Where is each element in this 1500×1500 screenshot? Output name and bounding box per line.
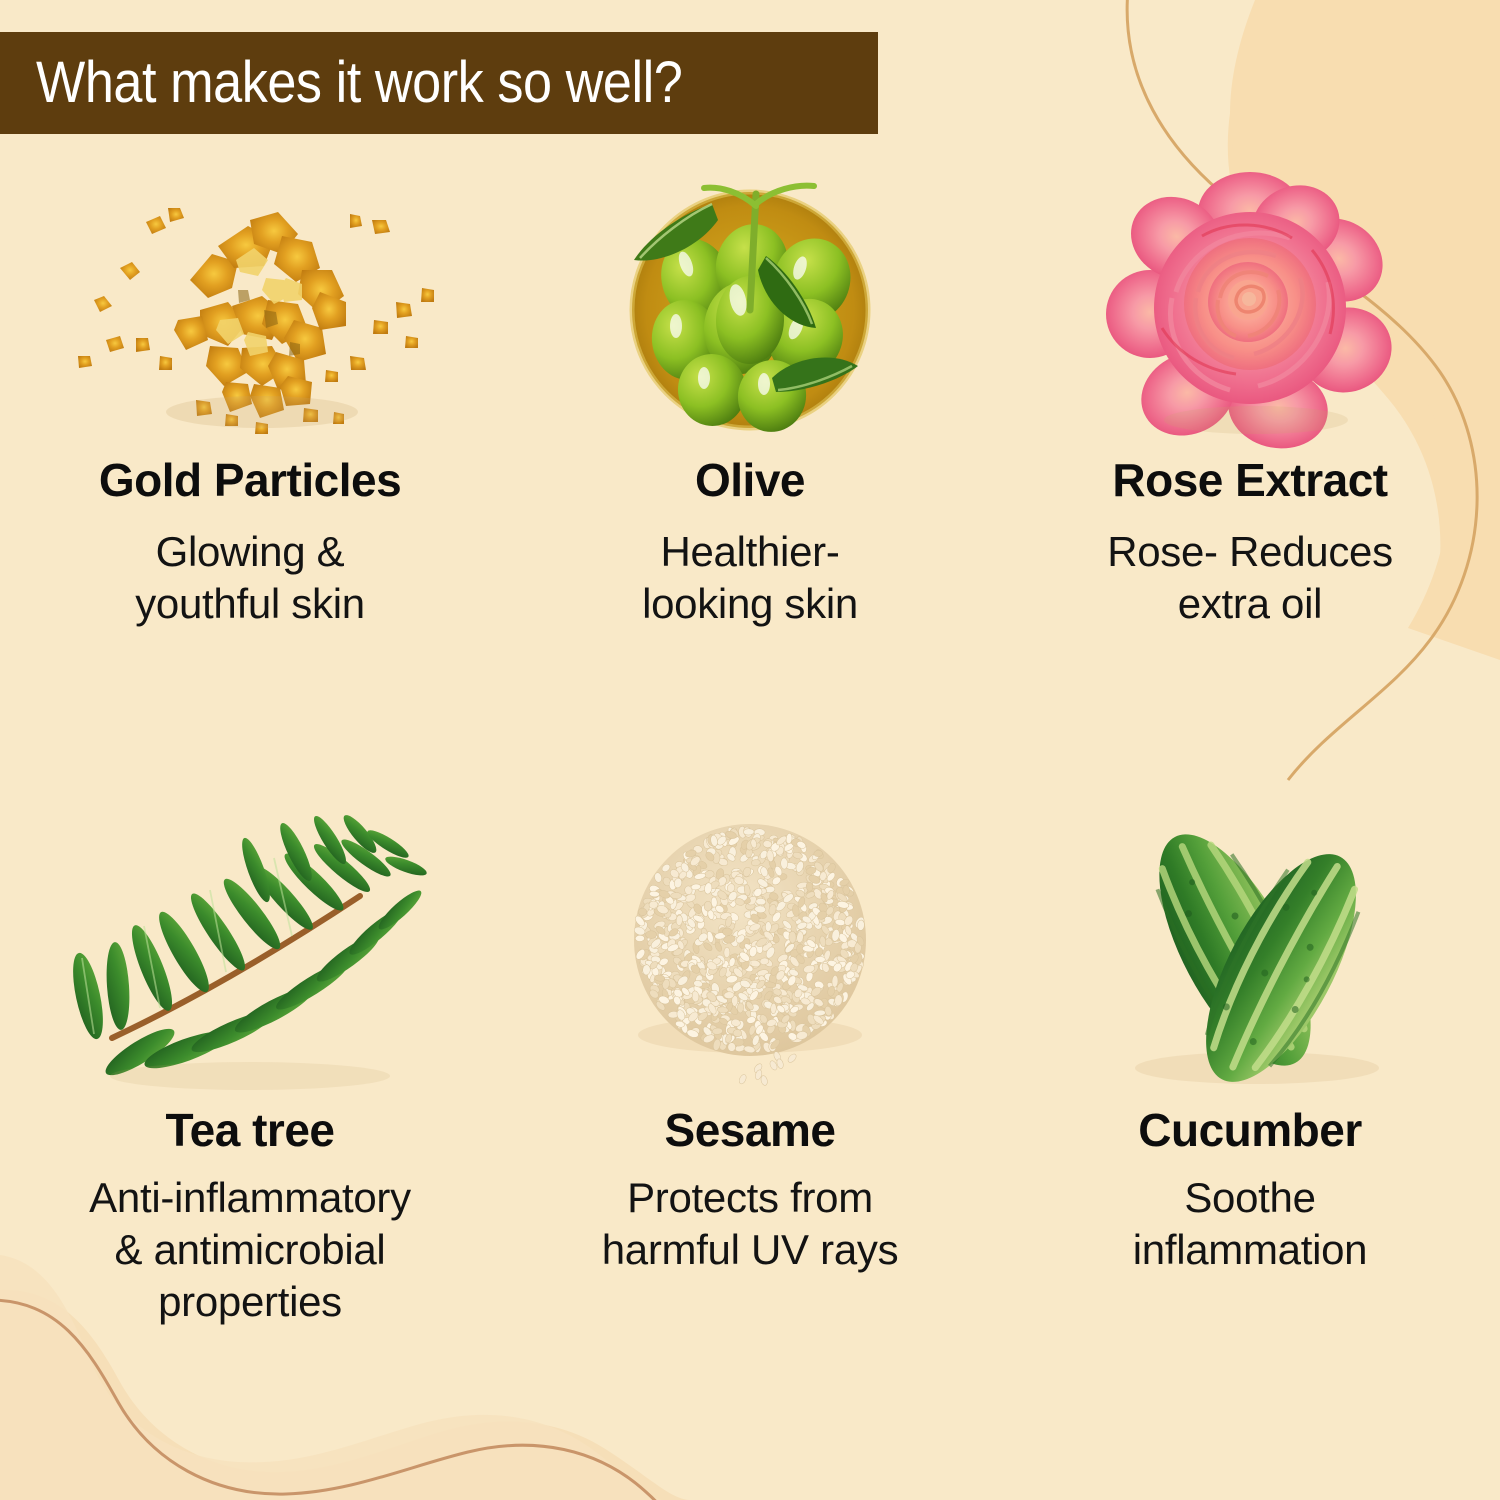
olive-bowl-icon [570,160,930,450]
ingredient-title: Sesame [665,1106,836,1154]
ingredient-benefits-poster: What makes it work so well? [0,0,1500,1500]
ingredient-card-rose-extract: Rose Extract Rose- Reduces extra oil [1000,160,1500,630]
ingredient-card-gold-particles: Gold Particles Glowing & youthful skin [0,160,500,630]
cucumber-pair-icon [1070,800,1430,1100]
gold-flakes-icon [70,160,430,450]
ingredient-title: Cucumber [1138,1106,1361,1154]
page-title: What makes it work so well? [36,54,682,112]
ingredient-row-bottom: Tea tree Anti-inflammatory & antimicrobi… [0,800,1500,1329]
ingredient-title: Gold Particles [99,456,401,504]
ingredient-description: Healthier- looking skin [642,526,858,630]
ingredient-title: Olive [695,456,805,504]
rose-bloom-icon [1070,160,1430,450]
ingredient-description: Protects from harmful UV rays [602,1172,899,1276]
ingredient-description: Rose- Reduces extra oil [1107,526,1393,630]
tea-tree-sprig-icon [70,800,430,1100]
sesame-seeds-icon [570,800,930,1100]
ingredient-title: Tea tree [165,1106,334,1154]
ingredient-title: Rose Extract [1112,456,1387,504]
ingredient-card-tea-tree: Tea tree Anti-inflammatory & antimicrobi… [0,800,500,1329]
ingredient-description: Glowing & youthful skin [135,526,365,630]
ingredient-row-top: Gold Particles Glowing & youthful skin [0,160,1500,630]
ingredient-card-sesame: Sesame Protects from harmful UV rays [500,800,1000,1329]
ingredient-card-cucumber: Cucumber Soothe inflammation [1000,800,1500,1329]
ingredient-description: Anti-inflammatory & antimicrobial proper… [89,1172,411,1328]
ingredient-card-olive: Olive Healthier- looking skin [500,160,1000,630]
header-banner: What makes it work so well? [0,32,878,134]
ingredient-description: Soothe inflammation [1133,1172,1368,1276]
